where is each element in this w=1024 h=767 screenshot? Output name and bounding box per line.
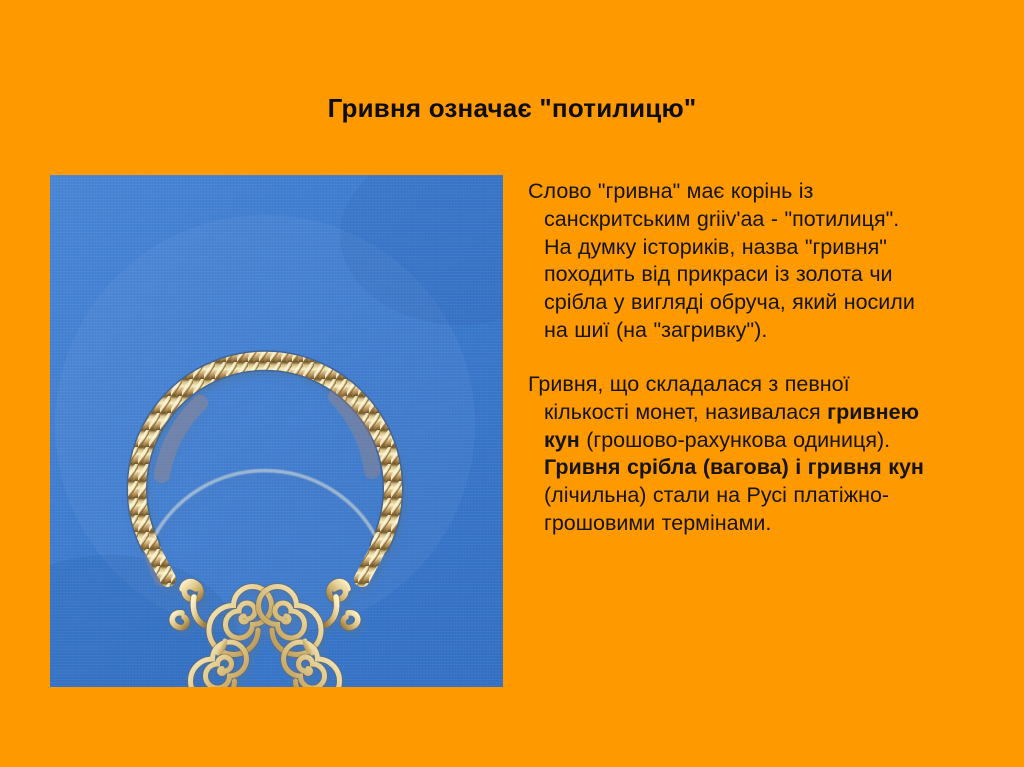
torc-illustration: [50, 175, 503, 687]
slide: Гривня означає "потилицю": [0, 0, 1024, 767]
paragraph-2-mid: (грошово-рахункова одиниця).: [580, 428, 890, 452]
torc-photo: [50, 175, 503, 687]
page-title: Гривня означає "потилицю": [0, 93, 1024, 124]
paragraph-2-lead: Гривня, що складалася з певної кількості…: [528, 372, 850, 424]
paragraph-1: Слово "гривна" має корінь із санскритськ…: [528, 178, 928, 345]
body-text: Слово "гривна" має корінь із санскритськ…: [528, 178, 928, 538]
paragraph-2-tail: (лічильна) стали на Русі платіжно-грошов…: [544, 483, 889, 535]
paragraph-2: Гривня, що складалася з певної кількості…: [528, 371, 928, 538]
paragraph-2-bold-2: Гривня срібла (вагова) і гривня кун: [544, 455, 924, 479]
